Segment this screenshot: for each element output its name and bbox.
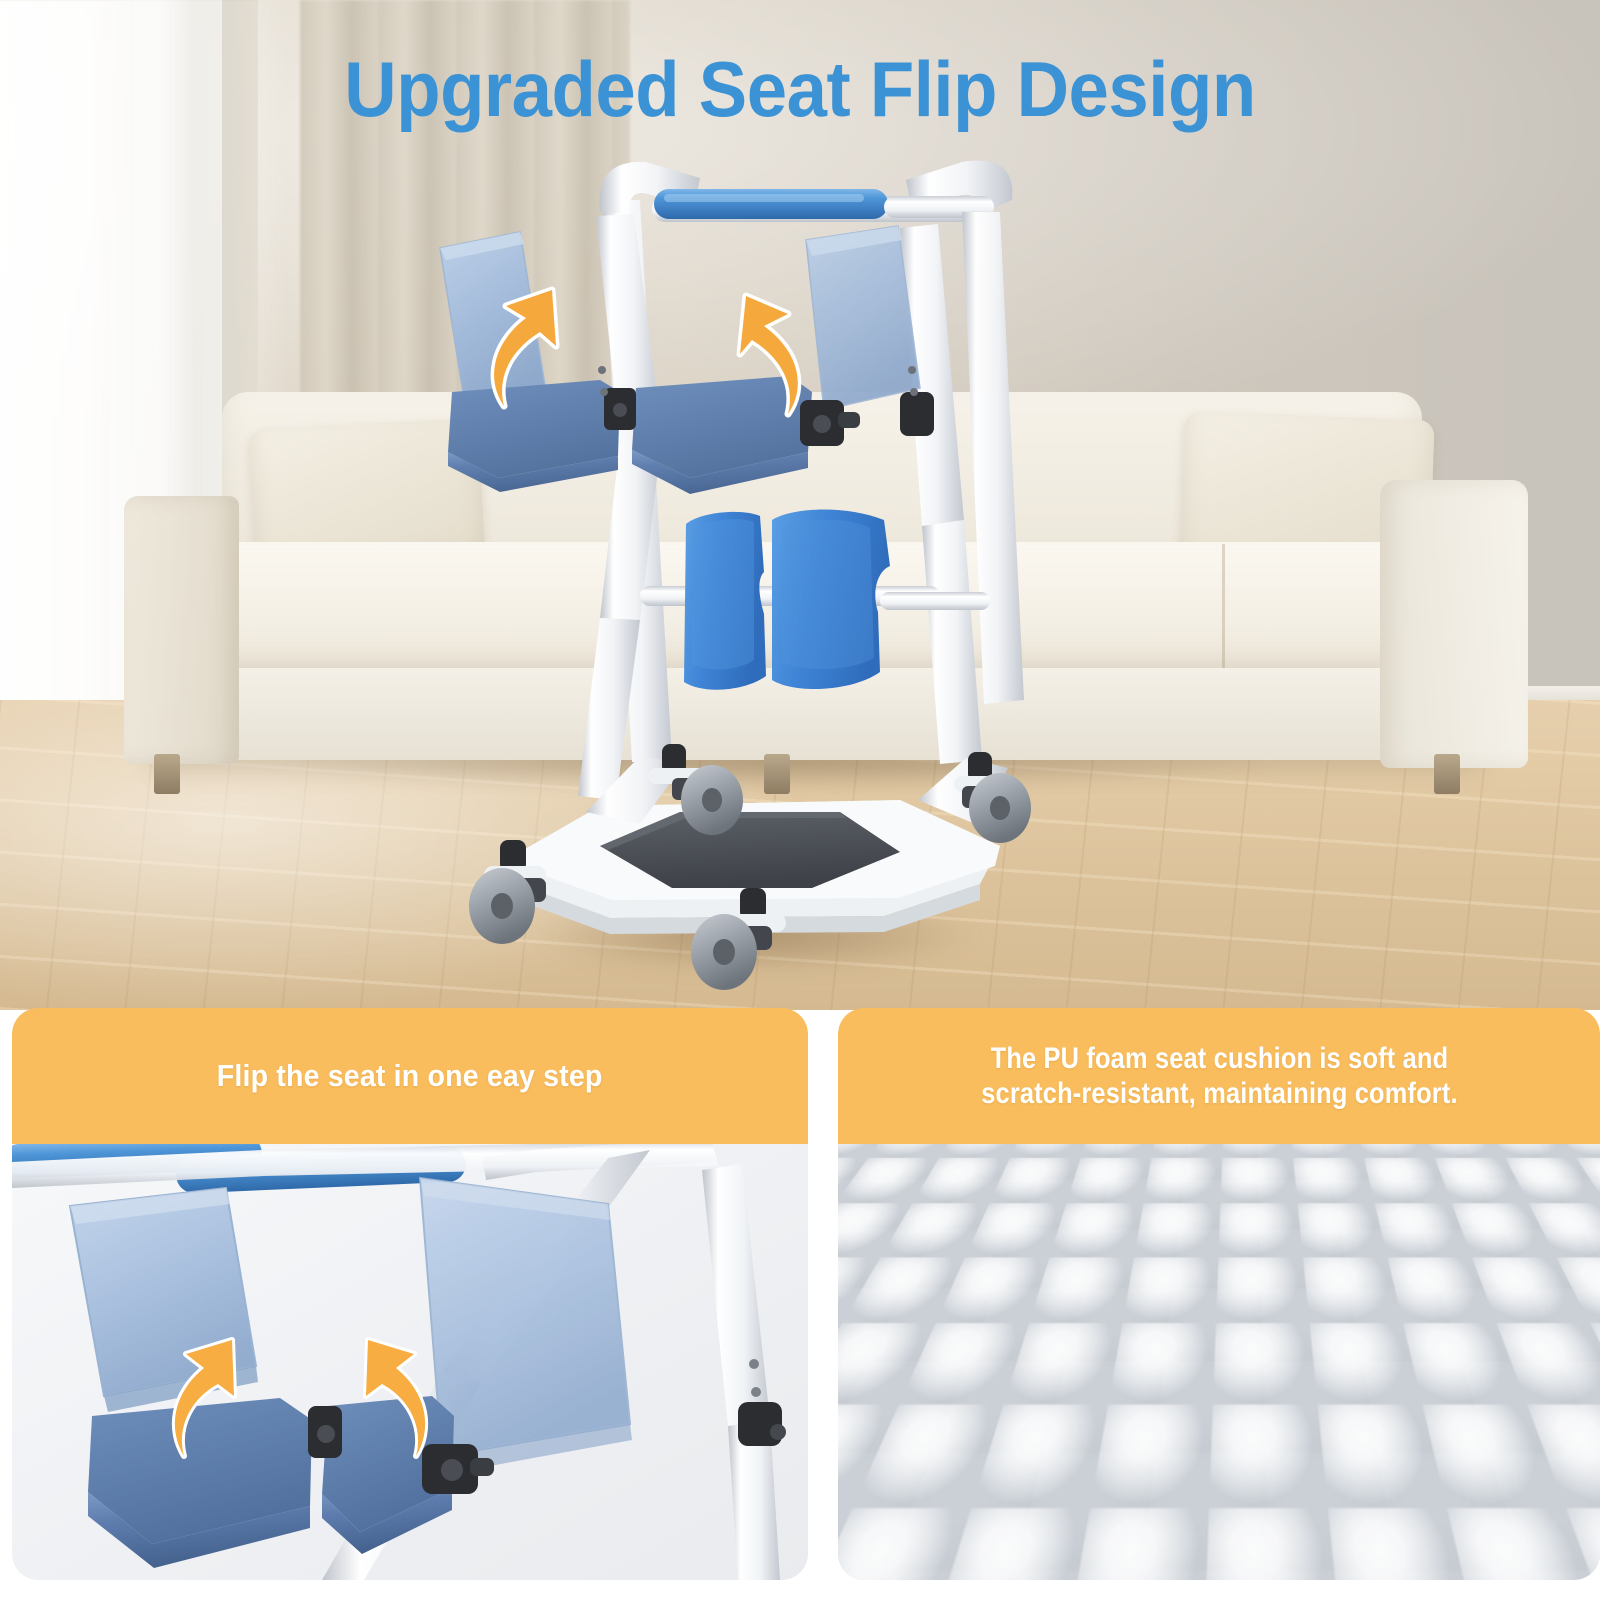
right-seat-pad [632,376,812,494]
closeup-left-seat-pad [88,1398,312,1568]
frame-knee-crossbar-right [880,592,990,610]
product-illustration [0,0,1600,1010]
flip-seat-caption-text: Flip the seat in one eay step [217,1058,603,1095]
pu-foam-caption-line-1: The PU foam seat cushion is soft and [981,1041,1457,1076]
handlebar-grip [654,189,888,219]
flip-seat-closeup-image [12,1144,808,1580]
flip-seat-caption-bar: Flip the seat in one eay step [12,1008,808,1144]
pu-foam-panel: The PU foam seat cushion is soft and scr… [838,1008,1600,1580]
infographic-page: Upgraded Seat Flip Design [0,0,1600,1600]
flip-seat-panel: Flip the seat in one eay step [12,1008,808,1580]
left-seat-pad [448,380,620,492]
pu-foam-texture-image [838,1144,1600,1580]
frame-clamp-right [900,392,934,436]
patient-transfer-lift [0,0,1600,1010]
flip-seat-closeup-svg [12,1144,808,1580]
closeup-seat-hinge [308,1406,342,1458]
knee-pad-right [772,509,890,689]
seat-hinge-right [800,400,860,446]
knee-pad-left [684,512,766,690]
hero-scene: Upgraded Seat Flip Design [0,0,1600,1010]
pu-foam-caption-text: The PU foam seat cushion is soft and scr… [960,1041,1478,1112]
closeup-clamp-right [738,1402,786,1446]
pu-foam-caption-line-2: scratch-resistant, maintaining comfort. [981,1076,1457,1111]
closeup-vertical-post [702,1164,780,1580]
seat-hinge-left [604,388,636,430]
pu-foam-caption-bar: The PU foam seat cushion is soft and scr… [838,1008,1600,1144]
